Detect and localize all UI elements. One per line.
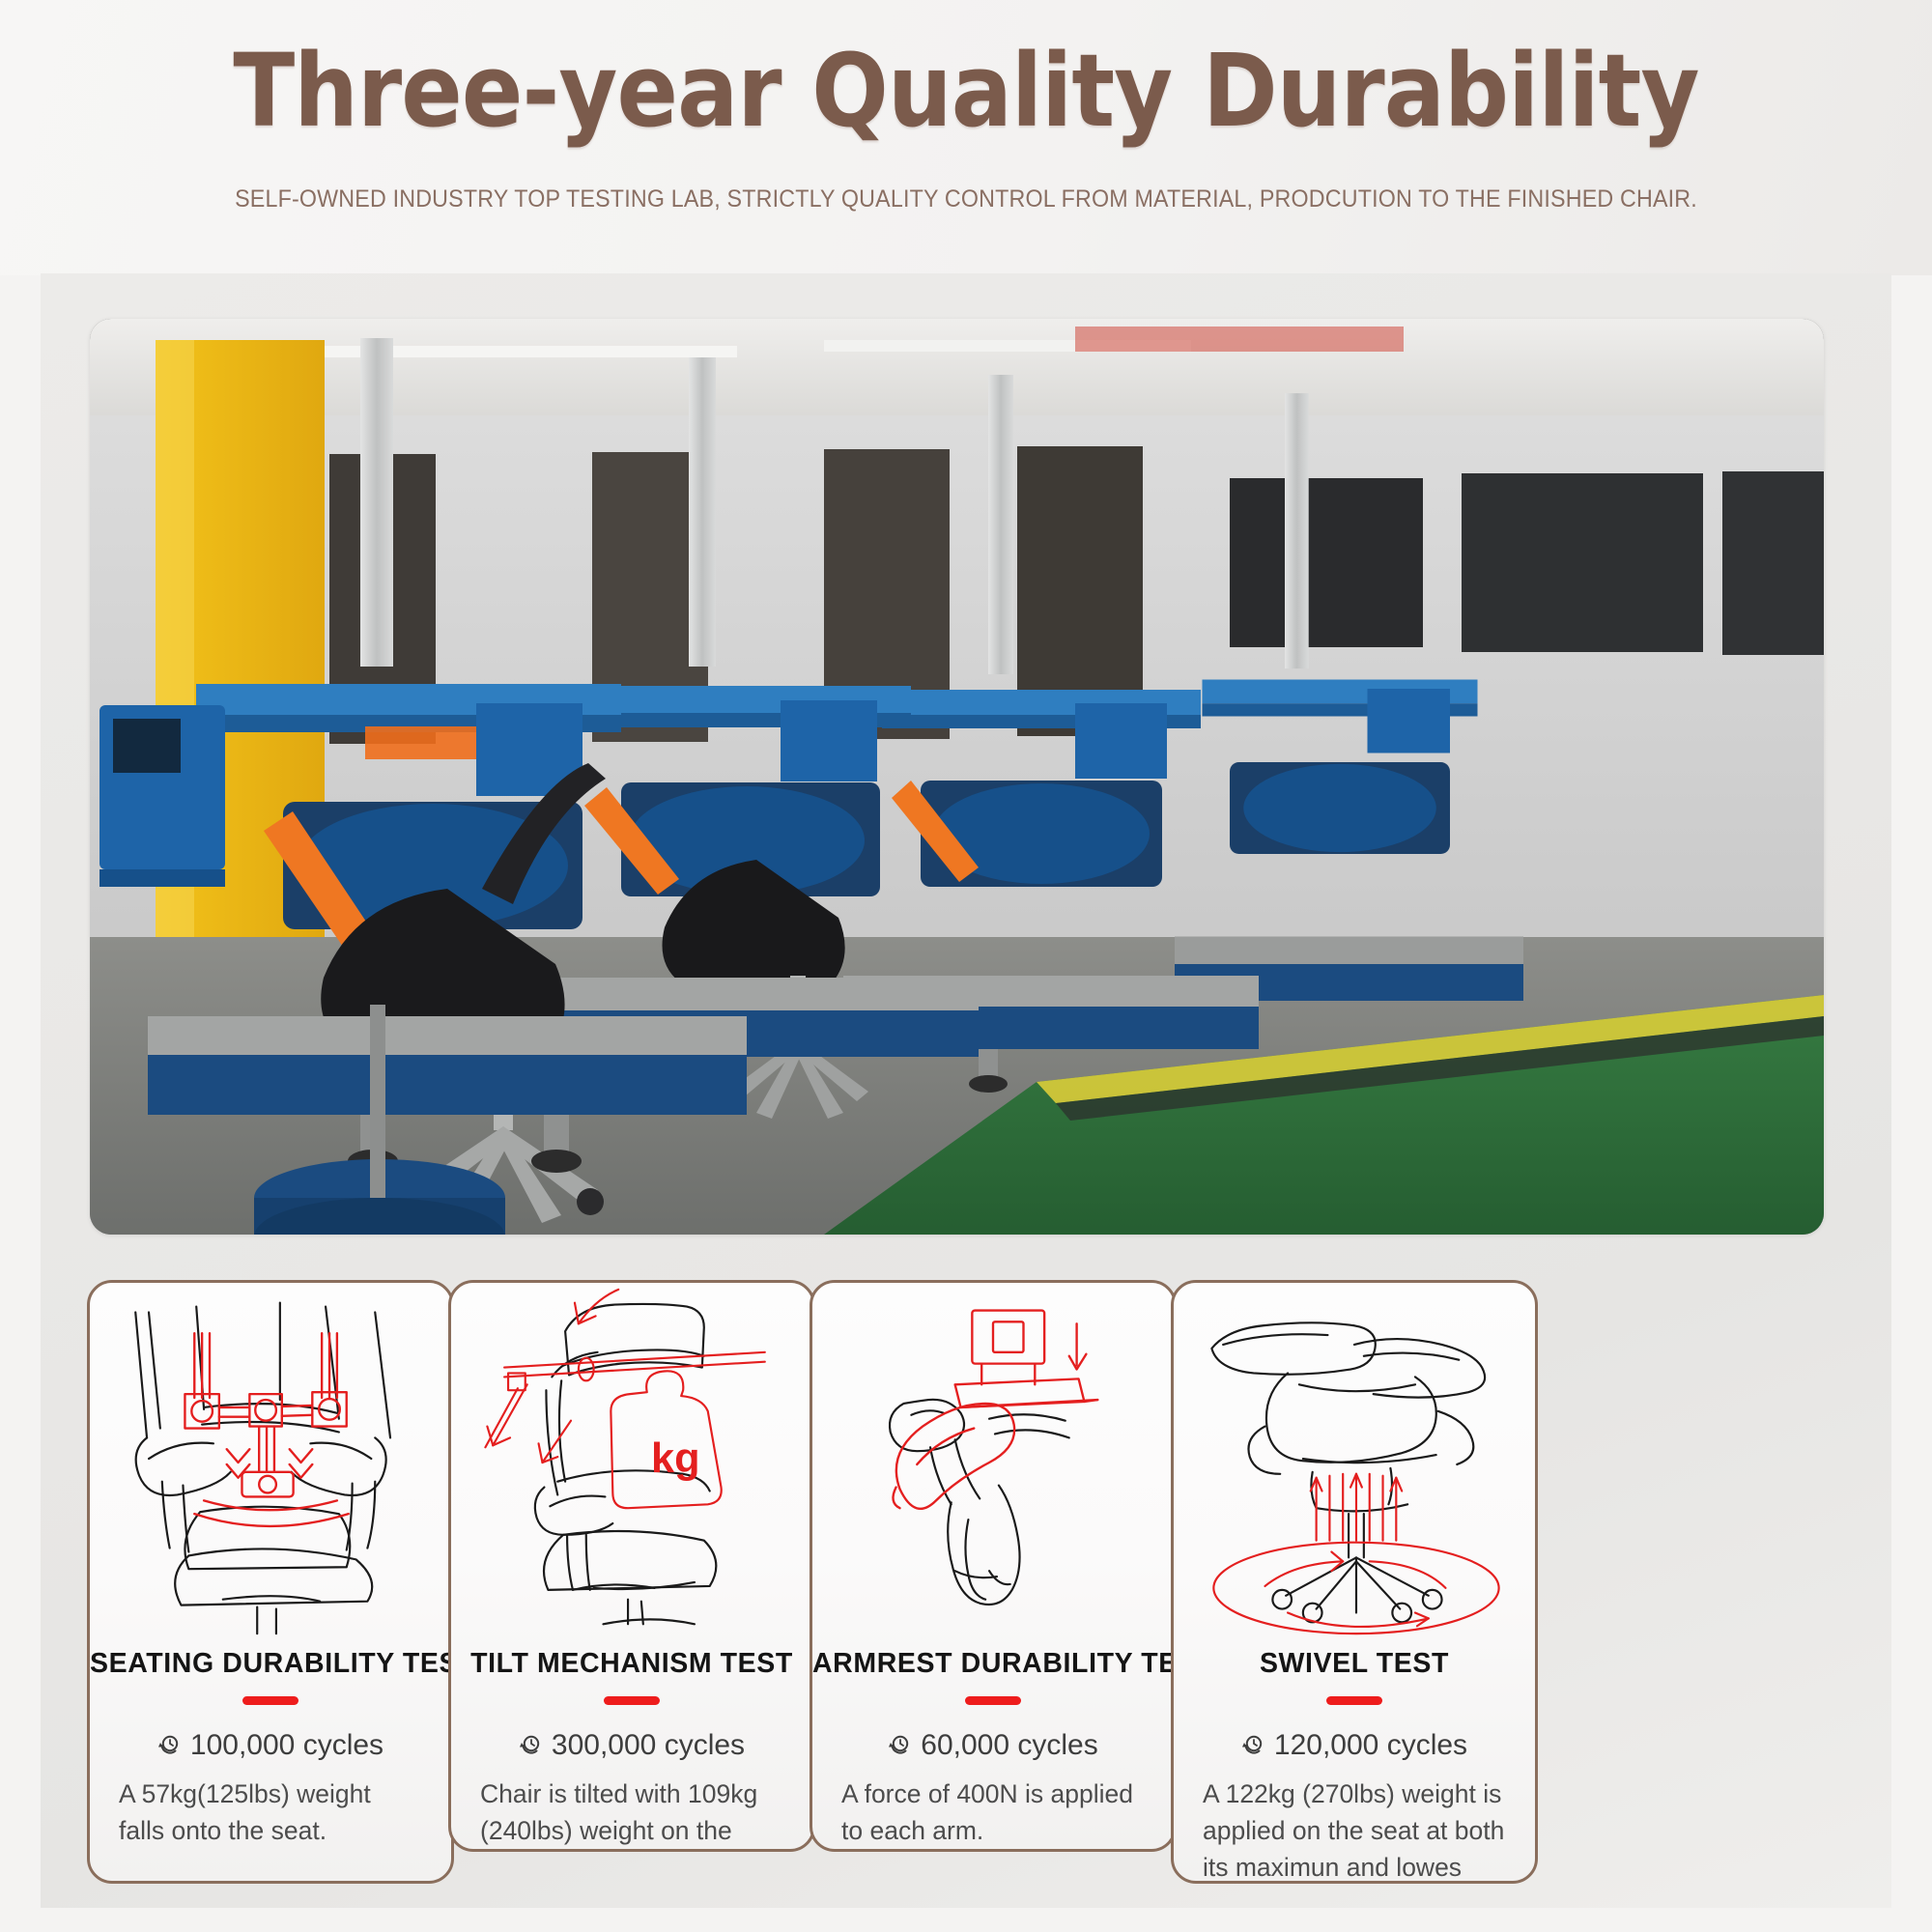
- card-accent-rule: [965, 1696, 1021, 1705]
- card-title: SEATING DURABILITY TEST: [90, 1648, 451, 1680]
- card-description: Chair is tilted with 109kg (240lbs) weig…: [480, 1776, 783, 1852]
- card-cycles: 100,000 cycles: [90, 1729, 451, 1765]
- card-description: A 122kg (270lbs) weight is applied on th…: [1203, 1776, 1506, 1884]
- card-seating-durability-test[interactable]: SEATING DURABILITY TEST 100,000 cycles A…: [87, 1280, 454, 1884]
- card-accent-rule: [242, 1696, 298, 1705]
- card-title: TILT MECHANISM TEST: [451, 1648, 812, 1680]
- illustration-armrest-force: [812, 1283, 1174, 1640]
- cycle-clock-icon: [1241, 1732, 1266, 1765]
- card-swivel-test[interactable]: SWIVEL TEST 120,000 cycles A 122kg (270l…: [1171, 1280, 1538, 1884]
- card-cycles-value: 60,000 cycles: [921, 1729, 1097, 1761]
- card-accent-rule: [1326, 1696, 1382, 1705]
- card-armrest-durability-test[interactable]: ARMREST DURABILITY TEST 60,000 cycles A …: [810, 1280, 1177, 1852]
- card-description: A force of 400N is applied to each arm.: [841, 1776, 1145, 1849]
- illustration-chair-weight-drop: [90, 1283, 451, 1640]
- card-cycles-value: 300,000 cycles: [552, 1729, 745, 1761]
- card-accent-rule: [604, 1696, 660, 1705]
- test-cards: SEATING DURABILITY TEST 100,000 cycles A…: [0, 0, 1932, 1932]
- card-cycles: 120,000 cycles: [1174, 1729, 1535, 1765]
- cycle-clock-icon: [157, 1732, 183, 1765]
- card-title: SWIVEL TEST: [1174, 1648, 1535, 1680]
- cycle-clock-icon: [888, 1732, 913, 1765]
- kg-label: kg: [651, 1435, 700, 1482]
- card-tilt-mechanism-test[interactable]: kg TILT MECHANISM TEST 300,000 cycles Ch…: [448, 1280, 815, 1852]
- illustration-chair-tilt-kg-weight: kg: [451, 1283, 812, 1640]
- card-title: ARMREST DURABILITY TEST: [812, 1648, 1174, 1680]
- illustration-chair-swivel-rotation: [1174, 1283, 1535, 1640]
- card-description: A 57kg(125lbs) weight falls onto the sea…: [119, 1776, 422, 1849]
- cycle-clock-icon: [519, 1732, 544, 1765]
- card-cycles-value: 120,000 cycles: [1274, 1729, 1467, 1761]
- card-cycles: 300,000 cycles: [451, 1729, 812, 1765]
- card-cycles: 60,000 cycles: [812, 1729, 1174, 1765]
- card-cycles-value: 100,000 cycles: [190, 1729, 384, 1761]
